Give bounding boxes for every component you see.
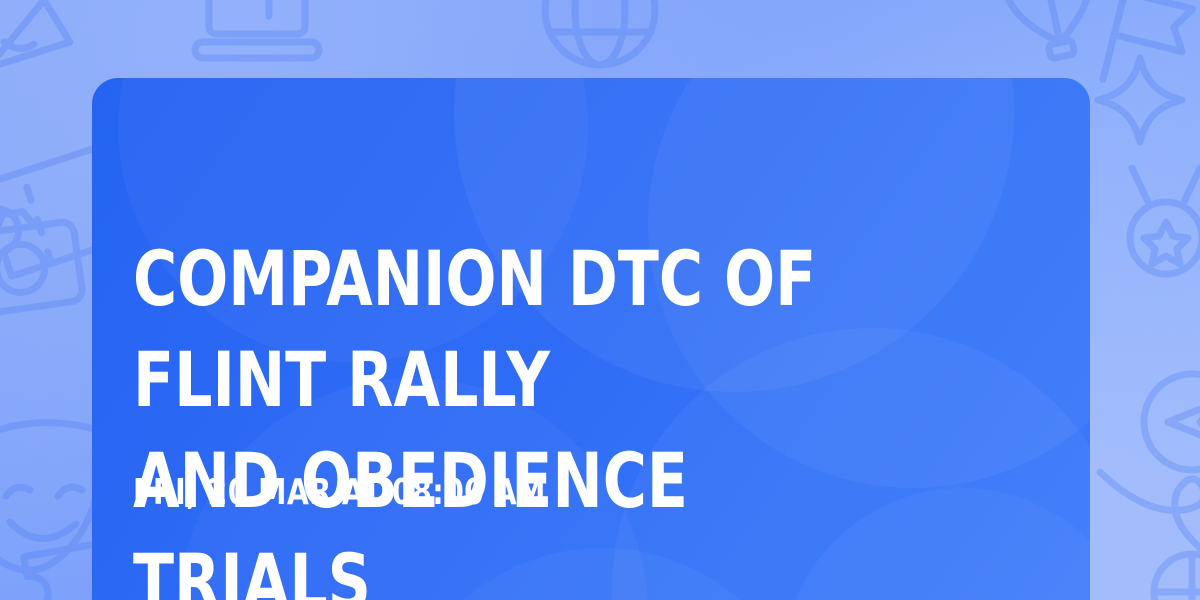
balloon-icon [997, 0, 1104, 65]
event-date: Fri, 20 Mar at 08:00 AM [133, 470, 546, 516]
confetti-swirl-icon [1100, 472, 1200, 562]
balloon-icon-2 [1154, 554, 1200, 600]
sparkle-icon [1098, 58, 1182, 142]
event-title: Companion DTC of Flint Rally and Obedien… [133, 228, 940, 600]
event-card[interactable]: Companion DTC of Flint Rally and Obedien… [92, 78, 1090, 600]
event-banner: Companion DTC of Flint Rally and Obedien… [0, 0, 1200, 600]
event-card-content: Companion DTC of Flint Rally and Obedien… [133, 78, 1050, 600]
laptop-icon [195, 0, 319, 58]
paper-plane-icon [1144, 374, 1200, 470]
confetti-icon [0, 0, 70, 68]
medal-icon [1130, 168, 1200, 274]
globe-icon [545, 0, 655, 65]
